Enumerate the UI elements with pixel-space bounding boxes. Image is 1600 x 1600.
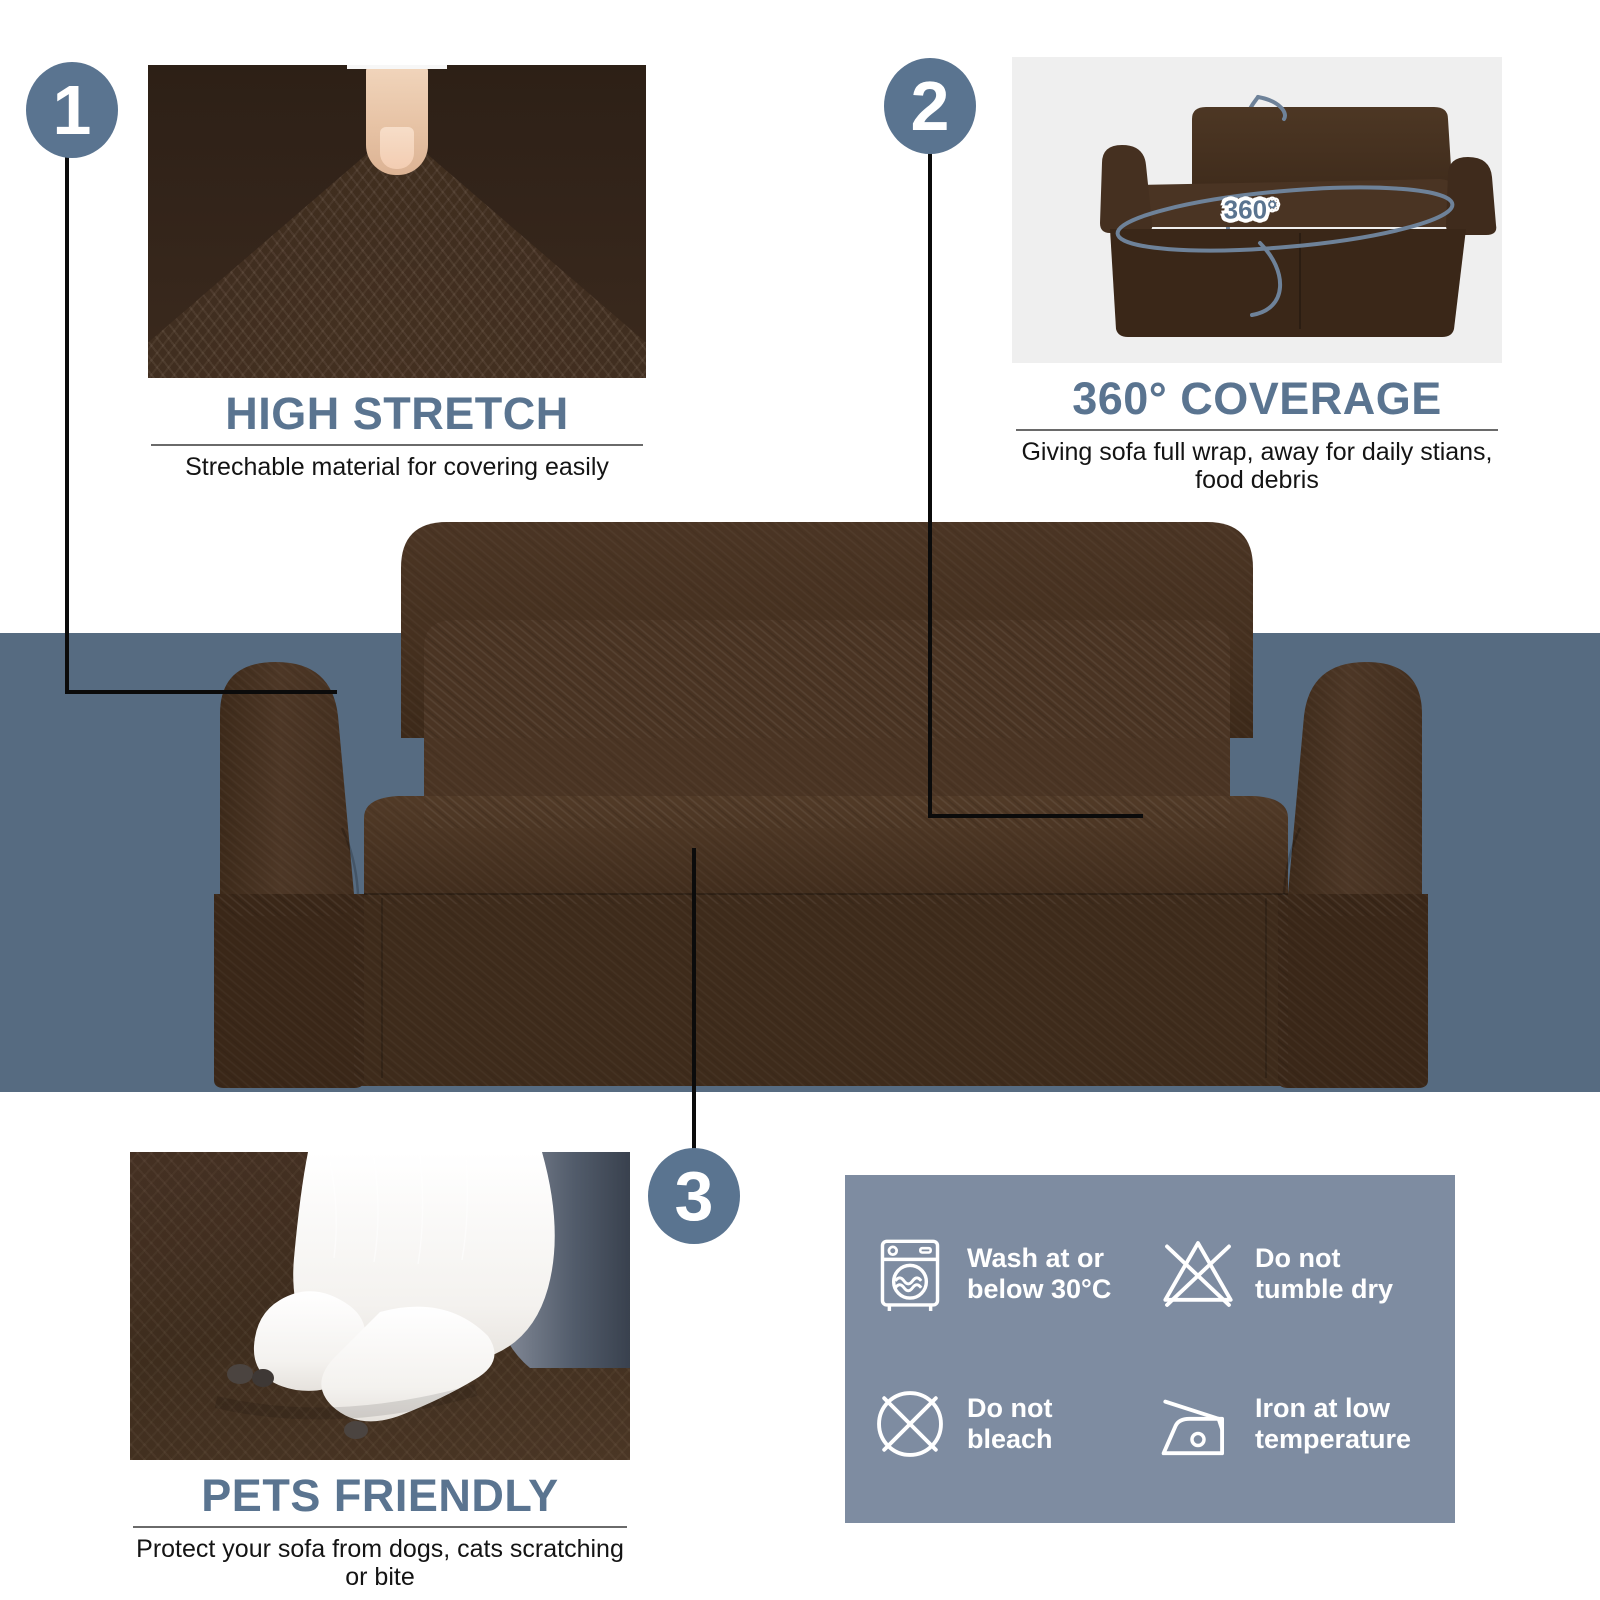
feature-subtitle: Strechable material for covering easily [148,453,646,481]
care-item-no-tumble-dry: Do not tumble dry [1155,1201,1433,1347]
care-label: Do not bleach [967,1393,1053,1455]
feature-title: PETS FRIENDLY [130,1470,630,1522]
degree-label: 360° [1224,195,1278,226]
title-divider [133,1526,627,1528]
care-label: Do not tumble dry [1255,1243,1393,1305]
step-badge-2: 2 [884,58,976,154]
care-item-iron-low: Iron at low temperature [1155,1351,1433,1497]
no-bleach-icon [867,1381,953,1467]
leader-line-2-vertical [928,150,932,818]
leader-line-1-horizontal [65,690,337,694]
photo-top-tab [347,65,447,69]
title-divider [1016,429,1498,431]
care-item-no-bleach: Do not bleach [867,1351,1145,1497]
step-badge-3: 3 [648,1148,740,1244]
care-item-wash: Wash at or below 30°C [867,1201,1145,1347]
feature-subtitle: Protect your sofa from dogs, cats scratc… [130,1535,630,1591]
main-product-sofa-image [206,498,1436,1088]
iron-low-temp-icon [1155,1381,1241,1467]
title-divider [151,444,643,446]
care-instructions-panel: Wash at or below 30°C Do not tumble dry … [845,1175,1455,1523]
leader-line-1-vertical [65,150,69,694]
dog-paws-photo [130,1152,630,1460]
feature-subtitle: Giving sofa full wrap, away for daily st… [1012,438,1502,494]
no-tumble-dry-icon [1155,1231,1241,1317]
leader-line-2-horizontal [928,814,1143,818]
step-badge-1: 1 [26,62,118,158]
feature-card-pets-friendly: PETS FRIENDLY Protect your sofa from dog… [130,1152,630,1591]
feature-title: HIGH STRETCH [148,388,646,440]
washing-machine-icon [867,1231,953,1317]
fabric-stretch-photo [148,65,646,378]
sofa-360-photo: 360° [1012,57,1502,363]
finger-icon [366,65,428,175]
feature-title: 360° COVERAGE [1012,373,1502,425]
care-label: Iron at low temperature [1255,1393,1411,1455]
leader-line-3-vertical [692,848,696,1150]
feature-card-high-stretch: HIGH STRETCH Strechable material for cov… [148,65,646,481]
care-label: Wash at or below 30°C [967,1243,1111,1305]
feature-card-360-coverage: 360° 360° COVERAGE Giving sofa full wrap… [1012,57,1502,494]
dog-illustration [130,1152,630,1460]
